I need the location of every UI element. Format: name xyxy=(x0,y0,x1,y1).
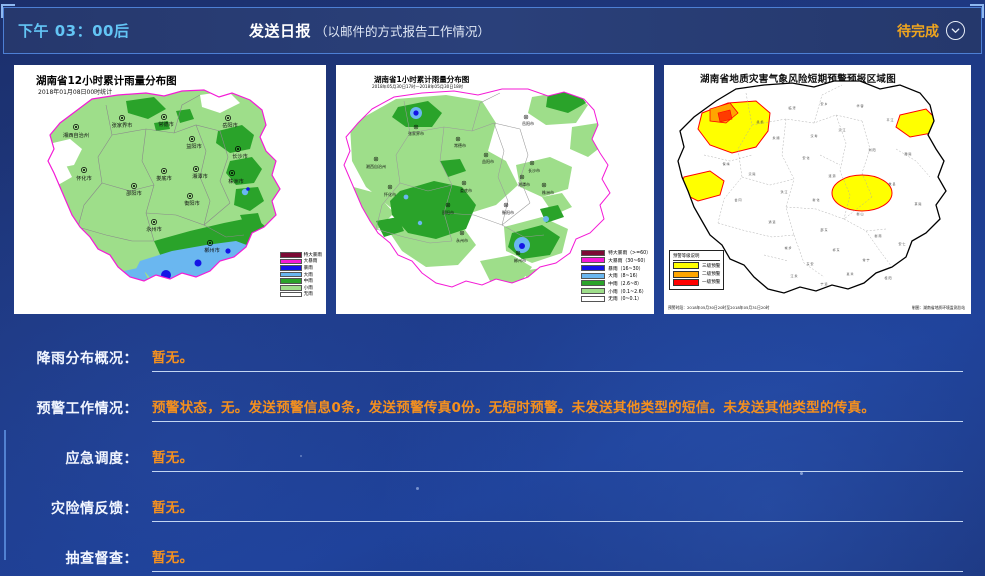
field-label: 灾险情反馈： xyxy=(0,498,138,522)
svg-text:平 江: 平 江 xyxy=(887,117,894,122)
status-badge: 待完成 xyxy=(897,21,939,41)
chevron-down-circle-icon[interactable] xyxy=(946,21,965,40)
field-label: 降雨分布概况： xyxy=(0,348,138,372)
legend-item: 特大暴雨（>=60） xyxy=(581,249,651,256)
map-footer-right: 制图：湖南省地质环境监测总站 xyxy=(912,305,965,311)
svg-text:永州市: 永州市 xyxy=(146,225,162,233)
legend-label: 三级预警 xyxy=(702,263,720,269)
legend-label: 大暴雨 xyxy=(304,258,318,264)
svg-text:张家界市: 张家界市 xyxy=(112,121,133,129)
legend-swatch xyxy=(581,280,605,286)
legend-item: 大雨 xyxy=(280,272,322,278)
legend-swatch xyxy=(581,257,605,263)
rainfall-legend: 特大暴雨 大暴雨 暴雨 大雨 中雨 小雨 无雨 xyxy=(280,252,322,298)
svg-text:张家界市: 张家界市 xyxy=(408,130,424,136)
daily-report-page: 下午 03：00后 发送日报 （以邮件的方式报告工作情况） 待完成 湖南省12小… xyxy=(0,0,985,576)
svg-text:长沙市: 长沙市 xyxy=(232,152,248,160)
map-card-geo-hazard[interactable]: 湖南省地质灾害气象风险短期预警预报区域图 xyxy=(664,65,971,314)
svg-text:汉 寿: 汉 寿 xyxy=(811,133,818,138)
svg-text:湘潭市: 湘潭市 xyxy=(192,172,208,180)
legend-swatch xyxy=(673,262,699,269)
legend-swatch xyxy=(581,265,605,271)
page-subtitle: （以邮件的方式报告工作情况） xyxy=(315,21,490,40)
svg-text:桂 阳: 桂 阳 xyxy=(885,275,892,280)
svg-text:常德市: 常德市 xyxy=(158,120,174,128)
field-value-rainfall-overview[interactable]: 暂无。 xyxy=(152,346,963,372)
legend-label: 特大暴雨 xyxy=(304,252,322,258)
svg-text:沅 江: 沅 江 xyxy=(839,127,846,132)
legend-label: 暴雨（16~30） xyxy=(608,265,643,272)
svg-text:浏 阳: 浏 阳 xyxy=(869,147,876,152)
legend-item: 小雨（0.1~2.6） xyxy=(581,288,651,295)
legend-item: 大暴雨（30~60） xyxy=(581,257,651,264)
legend-label: 小雨 xyxy=(304,285,313,291)
form-row-emergency-dispatch: 应急调度： 暂无。 xyxy=(0,438,985,472)
svg-text:湘西自治州: 湘西自治州 xyxy=(366,163,386,169)
legend-item: 特大暴雨 xyxy=(280,252,322,258)
svg-text:城 步: 城 步 xyxy=(785,245,792,250)
svg-text:攸 县: 攸 县 xyxy=(889,181,896,186)
report-form: 降雨分布概况： 暂无。 预警工作情况： 预警状态，无。发送预警信息0条，发送预警… xyxy=(0,322,985,574)
legend-swatch xyxy=(280,252,302,258)
svg-text:华 容: 华 容 xyxy=(857,103,864,108)
field-label: 预警工作情况： xyxy=(0,398,138,422)
legend-swatch xyxy=(280,278,302,284)
svg-text:洪 江: 洪 江 xyxy=(781,189,788,194)
svg-text:衡 南: 衡 南 xyxy=(875,233,882,238)
legend-label: 中雨 xyxy=(304,278,313,284)
legend-label: 大雨 xyxy=(304,272,313,278)
svg-text:涟 源: 涟 源 xyxy=(829,173,836,178)
svg-text:益阳市: 益阳市 xyxy=(482,158,494,164)
svg-text:江 永: 江 永 xyxy=(791,273,798,278)
svg-text:岳阳市: 岳阳市 xyxy=(522,120,534,126)
legend-label: 二级预警 xyxy=(702,271,720,277)
legend-label: 无雨（0~0.1） xyxy=(608,295,642,302)
legend-swatch xyxy=(581,273,605,279)
legend-item: 二级预警 xyxy=(673,271,720,278)
field-value-spot-check[interactable]: 暂无。 xyxy=(152,546,963,572)
legend-label: 中雨（2.6~8） xyxy=(608,280,642,287)
field-value-emergency-dispatch[interactable]: 暂无。 xyxy=(152,446,963,472)
legend-item: 小雨 xyxy=(280,285,322,291)
legend-item: 三级预警 xyxy=(673,262,720,269)
svg-text:通 道: 通 道 xyxy=(769,219,776,224)
svg-text:株洲市: 株洲市 xyxy=(228,177,244,185)
legend-title: 预警等级说明 xyxy=(673,253,720,261)
svg-text:永 顺: 永 顺 xyxy=(773,135,780,140)
form-row-spot-check: 抽查督查： 暂无。 xyxy=(0,538,985,572)
svg-text:邵阳市: 邵阳市 xyxy=(442,209,454,215)
page-title: 发送日报 xyxy=(249,20,311,41)
svg-text:益阳市: 益阳市 xyxy=(186,142,202,150)
legend-item: 中雨（2.6~8） xyxy=(581,280,651,287)
legend-swatch xyxy=(280,292,302,298)
legend-item: 大暴雨 xyxy=(280,258,322,264)
svg-text:安 仁: 安 仁 xyxy=(899,241,906,246)
svg-text:醴 陵: 醴 陵 xyxy=(905,151,912,156)
form-row-warning-work: 预警工作情况： 预警状态，无。发送预警信息0条，发送预警传真0份。无短时预警。未… xyxy=(0,388,985,422)
legend-label: 小雨（0.1~2.6） xyxy=(608,288,646,295)
svg-text:岳阳市: 岳阳市 xyxy=(222,121,238,129)
form-row-rainfall-overview: 降雨分布概况： 暂无。 xyxy=(0,338,985,372)
svg-text:长沙市: 长沙市 xyxy=(528,167,540,173)
svg-text:衡 山: 衡 山 xyxy=(857,211,864,216)
map-panels-row: 湖南省12小时累计雨量分布图 2018年01月08日00时统计 xyxy=(14,65,971,314)
svg-text:沅 陵: 沅 陵 xyxy=(749,171,756,176)
svg-text:安 乡: 安 乡 xyxy=(821,101,828,106)
svg-text:茶 陵: 茶 陵 xyxy=(915,201,922,206)
legend-swatch xyxy=(673,271,699,278)
geohazard-legend: 预警等级说明 三级预警 二级预警 一级预警 xyxy=(669,250,724,290)
svg-text:桑 植: 桑 植 xyxy=(757,119,764,124)
legend-label: 一级预警 xyxy=(702,279,720,285)
map-card-1h-rainfall[interactable]: 湖南省1小时累计雨量分布图 2018年05月30日17时—2018年05月30日… xyxy=(336,65,654,314)
legend-swatch xyxy=(280,265,302,271)
form-row-disaster-feedback: 灾险情反馈： 暂无。 xyxy=(0,488,985,522)
map-card-12h-rainfall[interactable]: 湖南省12小时累计雨量分布图 2018年01月08日00时统计 xyxy=(14,65,326,314)
legend-swatch xyxy=(280,272,302,278)
task-status-group[interactable]: 待完成 xyxy=(897,21,965,41)
legend-label: 特大暴雨（>=60） xyxy=(608,249,651,256)
svg-text:宁 远: 宁 远 xyxy=(821,281,828,286)
map-footer-left: 预警时段：2018年05月30日20时至2018年05月31日20时 xyxy=(668,305,769,311)
legend-swatch xyxy=(581,250,605,256)
legend-item: 暴雨 xyxy=(280,265,322,271)
legend-item: 无雨 xyxy=(280,291,322,297)
svg-text:娄底市: 娄底市 xyxy=(156,174,172,182)
svg-text:临 澧: 临 澧 xyxy=(789,105,796,110)
legend-swatch xyxy=(280,285,302,291)
legend-label: 大暴雨（30~60） xyxy=(608,257,648,264)
field-value-warning-work[interactable]: 预警状态，无。发送预警信息0条，发送预警传真0份。无短时预警。未发送其他类型的短… xyxy=(152,396,963,422)
legend-item: 暴雨（16~30） xyxy=(581,265,651,272)
legend-item: 无雨（0~0.1） xyxy=(581,295,651,302)
svg-text:衡阳市: 衡阳市 xyxy=(502,209,514,215)
svg-text:会 同: 会 同 xyxy=(735,197,742,202)
legend-label: 大雨（8~16） xyxy=(608,272,640,279)
svg-text:衡阳市: 衡阳市 xyxy=(184,199,200,207)
svg-text:保 靖: 保 靖 xyxy=(723,161,730,166)
legend-item: 中雨 xyxy=(280,278,322,284)
legend-item: 大雨（8~16） xyxy=(581,272,651,279)
svg-text:娄底市: 娄底市 xyxy=(460,187,472,193)
legend-swatch xyxy=(280,259,302,265)
svg-text:湘西自治州: 湘西自治州 xyxy=(63,131,89,139)
field-value-disaster-feedback[interactable]: 暂无。 xyxy=(152,496,963,522)
svg-text:郴州市: 郴州市 xyxy=(204,246,220,254)
svg-text:常 宁: 常 宁 xyxy=(863,257,870,262)
rainfall-legend: 特大暴雨（>=60） 大暴雨（30~60） 暴雨（16~30） 大雨（8~16）… xyxy=(581,249,651,303)
legend-swatch xyxy=(581,288,605,294)
svg-text:新 化: 新 化 xyxy=(813,197,820,202)
task-header-bar: 下午 03：00后 发送日报 （以邮件的方式报告工作情况） 待完成 xyxy=(4,8,981,53)
legend-label: 无雨 xyxy=(304,291,313,297)
svg-text:常德市: 常德市 xyxy=(454,142,466,148)
svg-text:郴州市: 郴州市 xyxy=(514,257,526,263)
svg-text:东 安: 东 安 xyxy=(807,261,814,266)
svg-text:邵 东: 邵 东 xyxy=(821,227,828,232)
legend-label: 暴雨 xyxy=(304,265,313,271)
svg-text:安 化: 安 化 xyxy=(803,155,810,160)
svg-text:株洲市: 株洲市 xyxy=(542,189,554,195)
svg-text:嘉 禾: 嘉 禾 xyxy=(847,271,854,276)
svg-text:永州市: 永州市 xyxy=(456,237,468,243)
legend-swatch xyxy=(581,296,605,302)
svg-text:湘潭市: 湘潭市 xyxy=(518,181,530,187)
svg-text:邵阳市: 邵阳市 xyxy=(126,189,142,197)
field-label: 抽查督查： xyxy=(0,548,138,572)
svg-text:怀化市: 怀化市 xyxy=(384,191,396,197)
legend-swatch xyxy=(673,279,699,286)
task-title-group: 发送日报 （以邮件的方式报告工作情况） xyxy=(249,20,490,41)
svg-text:怀化市: 怀化市 xyxy=(76,174,92,182)
legend-item: 一级预警 xyxy=(673,279,720,286)
field-label: 应急调度： xyxy=(0,448,138,472)
svg-text:祁 东: 祁 东 xyxy=(833,247,840,252)
task-time-label: 下午 03：00后 xyxy=(18,20,129,41)
